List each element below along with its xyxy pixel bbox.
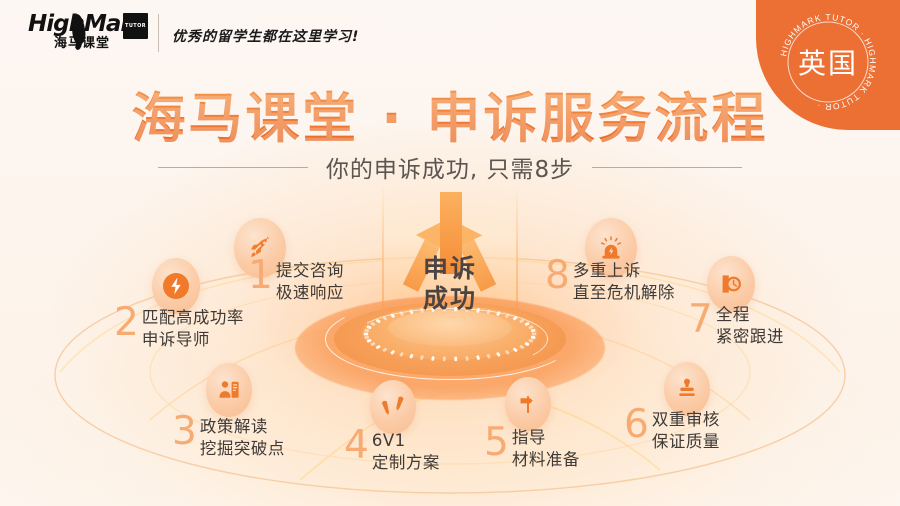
step-7-label: 全程 紧密跟进 — [716, 302, 784, 348]
logo-divider — [158, 14, 159, 52]
brand-logo[interactable]: HighMark TUTOR 海马课堂 — [28, 12, 146, 56]
step-7-number: 7 — [688, 302, 713, 338]
country-badge: HIGHMARK TUTOR · HIGHMARK TUTOR · 英国 — [756, 0, 900, 130]
logo-wordmark: HighMark TUTOR — [28, 12, 146, 36]
step-1-number: 1 — [248, 258, 273, 294]
step-1-line1: 提交咨询 — [276, 260, 344, 282]
step-8-line1: 多重上诉 — [573, 260, 675, 282]
subtitle-rule-right — [592, 167, 742, 168]
step-1-label: 提交咨询 极速响应 — [276, 258, 344, 304]
subtitle-rule-left — [158, 167, 308, 168]
step-8-label: 多重上诉 直至危机解除 — [573, 258, 675, 304]
step-3-number: 3 — [172, 414, 197, 450]
person-document-icon — [206, 363, 252, 417]
step-2-label: 匹配高成功率 申诉导师 — [142, 305, 244, 351]
step-5-line1: 指导 — [512, 427, 580, 449]
country-badge-inner: HIGHMARK TUTOR · HIGHMARK TUTOR · 英国 — [776, 10, 880, 114]
step-4-line1: 6V1 — [372, 430, 440, 452]
step-8-line2: 直至危机解除 — [573, 282, 675, 304]
podium-arc-2 — [352, 308, 548, 370]
step-5-number: 5 — [484, 425, 509, 461]
step-6-number: 6 — [624, 407, 649, 443]
subtitle-row: 你的申诉成功, 只需8步 — [0, 150, 900, 184]
step-5-line2: 材料准备 — [512, 449, 580, 471]
step-2-line2: 申诉导师 — [142, 329, 244, 351]
step-1-line2: 极速响应 — [276, 282, 344, 304]
logo-tutor-superscript: TUTOR — [123, 13, 148, 39]
country-badge-label: 英国 — [798, 42, 858, 82]
logo-chinese-name: 海马课堂 — [54, 37, 146, 51]
step-4-line2: 定制方案 — [372, 452, 440, 474]
brand-tagline: 优秀的留学生都在这里学习! — [172, 26, 359, 46]
center-success-graphic: 申诉 成功 — [330, 186, 570, 376]
step-6-line2: 保证质量 — [652, 431, 720, 453]
step-3-label: 政策解读 挖掘突破点 — [200, 414, 285, 460]
step-3-line2: 挖掘突破点 — [200, 438, 285, 460]
pen-tools-icon — [370, 380, 416, 434]
center-label: 申诉 成功 — [330, 254, 570, 314]
step-7-line2: 紧密跟进 — [716, 326, 784, 348]
step-2-number: 2 — [114, 305, 139, 341]
page-title: 海马课堂 · 申诉服务流程 — [0, 74, 900, 153]
step-2-line1: 匹配高成功率 — [142, 307, 244, 329]
center-label-line1: 申诉 — [330, 254, 570, 284]
step-5-label: 指导 材料准备 — [512, 425, 580, 471]
step-3-line1: 政策解读 — [200, 416, 285, 438]
step-4-label: 6V1 定制方案 — [372, 428, 440, 474]
page-subtitle: 你的申诉成功, 只需8步 — [326, 150, 574, 184]
signpost-icon — [505, 377, 551, 431]
step-6-line1: 双重审核 — [652, 409, 720, 431]
center-label-line2: 成功 — [330, 284, 570, 314]
step-7-line1: 全程 — [716, 304, 784, 326]
infographic-poster: HighMark TUTOR 海马课堂 优秀的留学生都在这里学习! HIGHMA… — [0, 0, 900, 506]
step-6-label: 双重审核 保证质量 — [652, 407, 720, 453]
step-8-number: 8 — [545, 258, 570, 294]
step-4-number: 4 — [344, 428, 369, 464]
